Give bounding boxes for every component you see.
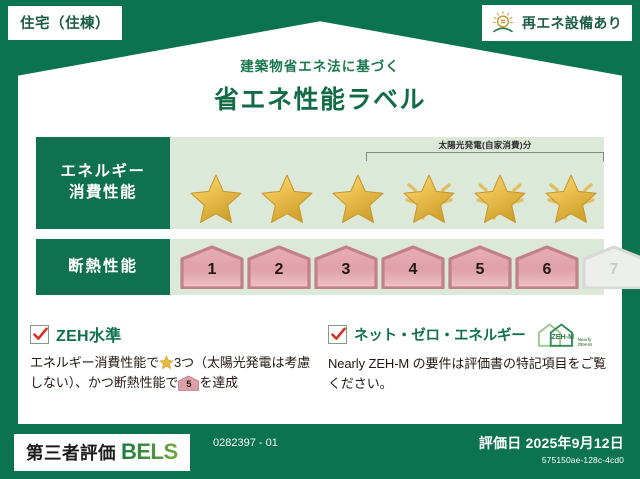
net-zero-body: Nearly ZEH-M の要件は評価書の特記項目をご覧ください。 <box>328 354 616 394</box>
star-3 <box>324 163 392 227</box>
inline-house-level: 5 <box>178 378 199 393</box>
zeh-body-part1: エネルギー消費性能で <box>30 355 159 370</box>
insulation-level-number: 6 <box>515 261 579 279</box>
energy-label-line1: エネルギー <box>60 162 145 183</box>
insulation-rating-area: 1234567 <box>170 239 604 295</box>
energy-performance-row: エネルギー 消費性能 太陽光発電(自家消費)分 <box>36 137 604 229</box>
zeh-standard-heading: ZEH水準 <box>30 322 312 346</box>
zeh-m-sub-line2: ZEH-M <box>578 342 592 347</box>
star-5 <box>466 163 534 227</box>
evaluation-info: 評価日 2025年9月12日 575150ae-128c-4cd0 <box>479 433 624 465</box>
zeh-standard-block: ZEH水準 エネルギー消費性能で 3つ（太陽光発電は考慮しない）、かつ断熱性能で… <box>30 322 312 393</box>
star-rating <box>170 163 604 227</box>
energy-performance-label: エネルギー 消費性能 <box>36 137 170 229</box>
net-zero-title: ネット・ゼロ・エネルギー <box>354 324 526 345</box>
insulation-level-3: 3 <box>314 245 378 289</box>
renewable-badge-label: 再エネ設備あり <box>522 13 622 33</box>
star-4 <box>395 163 463 227</box>
title-main: 省エネ性能ラベル <box>0 80 640 116</box>
check-icon <box>328 325 347 344</box>
footer: 第三者評価 BELS 0282397 - 01 評価日 2025年9月12日 5… <box>0 426 640 479</box>
insulation-level-7: 7 <box>582 245 640 289</box>
energy-label-card: 住宅（住棟） 再エネ設備あり 建築 <box>0 0 640 479</box>
insulation-level-number: 3 <box>314 261 378 279</box>
check-icon <box>30 325 49 344</box>
sun-renewable-icon <box>490 10 516 36</box>
insulation-level-scale: 1234567 <box>180 245 640 289</box>
solar-annotation: 太陽光発電(自家消費)分 <box>366 139 604 161</box>
star-6 <box>537 163 605 227</box>
star-1 <box>182 163 250 227</box>
insulation-performance-label: 断熱性能 <box>36 239 170 295</box>
housing-type-label: 住宅（住棟） <box>20 16 110 32</box>
evaluation-hash: 575150ae-128c-4cd0 <box>479 455 624 465</box>
net-zero-energy-block: ネット・ゼロ・エネルギー ZEH-M Nearly ZEH-M Nearly Z… <box>328 322 616 394</box>
solar-annotation-text: 太陽光発電(自家消費)分 <box>366 139 604 151</box>
zeh-standard-body: エネルギー消費性能で 3つ（太陽光発電は考慮しない）、かつ断熱性能で 5 を達成 <box>30 353 312 393</box>
zeh-m-logo: ZEH-M Nearly ZEH-M <box>537 322 592 347</box>
insulation-level-2: 2 <box>247 245 311 289</box>
title-subtitle: 建築物省エネ法に基づく <box>0 55 640 75</box>
insulation-level-1: 1 <box>180 245 244 289</box>
bels-jp-label: 第三者評価 <box>26 440 116 465</box>
insulation-level-number: 2 <box>247 261 311 279</box>
solar-annotation-bracket <box>366 152 604 161</box>
energy-rating-area: 太陽光発電(自家消費)分 <box>170 137 604 229</box>
insulation-level-number: 5 <box>448 261 512 279</box>
insulation-level-number: 1 <box>180 261 244 279</box>
zeh-m-logo-sub: Nearly ZEH-M <box>578 337 592 347</box>
insulation-level-4: 4 <box>381 245 445 289</box>
zeh-body-part3: を達成 <box>199 375 238 390</box>
svg-text:ZEH-M: ZEH-M <box>551 333 574 341</box>
zeh-standard-title: ZEH水準 <box>56 322 122 346</box>
insulation-level-number: 4 <box>381 261 445 279</box>
insulation-level-number: 7 <box>582 261 640 279</box>
inline-star-icon <box>159 355 174 370</box>
star-2 <box>253 163 321 227</box>
net-zero-heading: ネット・ゼロ・エネルギー ZEH-M Nearly ZEH-M <box>328 322 616 347</box>
bels-registration-number: 0282397 - 01 <box>213 437 283 451</box>
insulation-level-5: 5 <box>448 245 512 289</box>
energy-label-line2: 消費性能 <box>69 183 137 204</box>
bels-en-label: BELS <box>121 439 178 465</box>
bels-badge: 第三者評価 BELS <box>14 434 190 471</box>
inline-house-badge: 5 <box>178 375 199 391</box>
insulation-label-text: 断熱性能 <box>68 257 138 278</box>
insulation-level-6: 6 <box>515 245 579 289</box>
insulation-performance-row: 断熱性能 1234567 <box>36 239 604 295</box>
evaluation-date: 評価日 2025年9月12日 <box>479 433 624 453</box>
housing-type-chip: 住宅（住棟） <box>8 6 122 40</box>
title-block: 建築物省エネ法に基づく 省エネ性能ラベル <box>0 55 640 116</box>
renewable-equipment-badge: 再エネ設備あり <box>482 5 632 41</box>
